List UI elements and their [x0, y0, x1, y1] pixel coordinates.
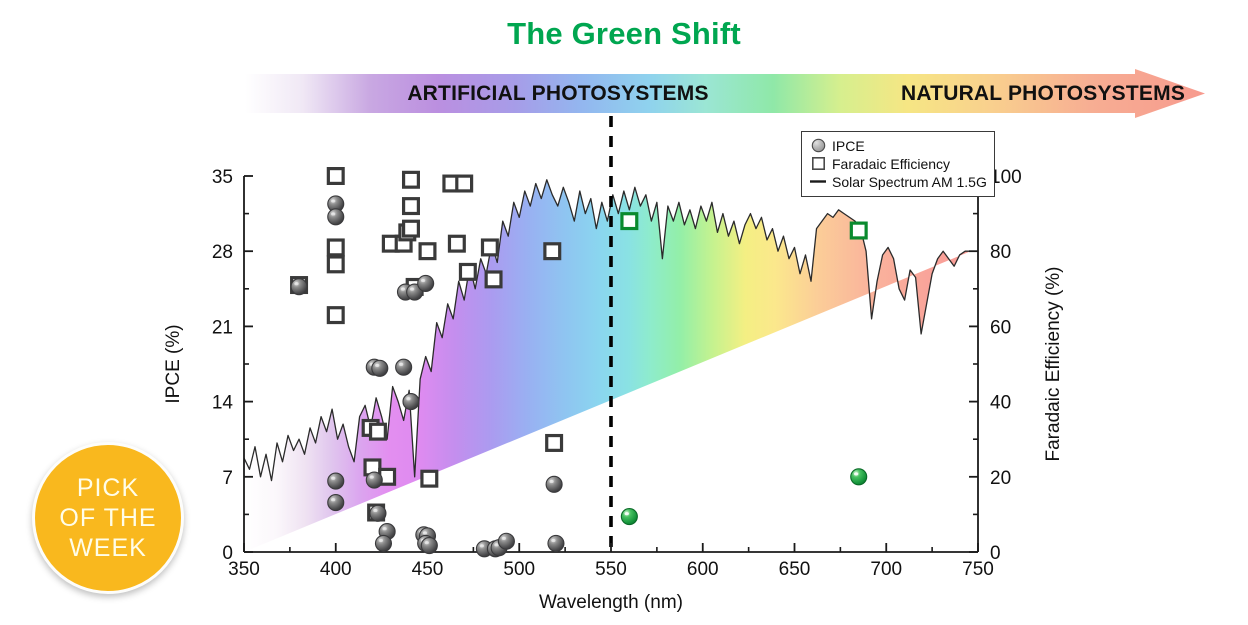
faradaic-efficiency-marker	[622, 214, 637, 229]
y-axis-label-left: IPCE (%)	[163, 324, 185, 403]
legend-item-ipce: IPCE	[807, 137, 987, 154]
legend-label: Solar Spectrum AM 1.5G	[832, 174, 987, 190]
svg-text:28: 28	[212, 242, 233, 263]
chart-svg: 3504004505005506006507007500714212835020…	[244, 176, 978, 552]
ipce-marker	[546, 476, 562, 492]
square-icon	[807, 156, 829, 171]
banner-label-natural: NATURAL PHOTOSYSTEMS	[879, 69, 1248, 118]
svg-text:7: 7	[222, 468, 233, 489]
faradaic-efficiency-marker	[404, 199, 419, 214]
x-axis-label: Wavelength (nm)	[539, 592, 683, 614]
ipce-marker	[370, 505, 386, 521]
svg-text:550: 550	[595, 559, 627, 580]
faradaic-efficiency-marker	[851, 223, 866, 238]
faradaic-efficiency-marker	[404, 172, 419, 187]
svg-text:14: 14	[212, 393, 234, 414]
legend-label: IPCE	[832, 138, 865, 154]
ipce-marker	[396, 359, 412, 375]
svg-text:650: 650	[779, 559, 811, 580]
svg-text:80: 80	[990, 242, 1011, 263]
svg-text:0: 0	[222, 543, 233, 564]
faradaic-efficiency-marker	[328, 257, 343, 272]
svg-text:700: 700	[870, 559, 902, 580]
ipce-marker	[375, 535, 391, 551]
ipce-marker	[621, 509, 637, 525]
faradaic-efficiency-marker	[328, 308, 343, 323]
faradaic-efficiency-marker	[404, 221, 419, 236]
faradaic-efficiency-marker	[422, 471, 437, 486]
ipce-marker	[418, 275, 434, 291]
svg-text:35: 35	[212, 167, 233, 188]
chart-plot-area: 3504004505005506006507007500714212835020…	[244, 176, 978, 552]
faradaic-efficiency-marker	[449, 236, 464, 251]
svg-text:20: 20	[990, 468, 1011, 489]
svg-text:0: 0	[990, 543, 1001, 564]
faradaic-efficiency-marker	[457, 176, 472, 191]
ipce-marker	[328, 473, 344, 489]
faradaic-efficiency-marker	[420, 244, 435, 259]
ipce-marker	[328, 495, 344, 511]
badge-line-1: PICK	[77, 473, 139, 503]
page-title: The Green Shift	[0, 16, 1248, 52]
svg-text:450: 450	[412, 559, 444, 580]
svg-text:21: 21	[212, 317, 233, 338]
faradaic-efficiency-marker	[371, 424, 386, 439]
faradaic-efficiency-marker	[482, 240, 497, 255]
ipce-marker	[403, 394, 419, 410]
line-icon	[807, 174, 829, 189]
svg-text:40: 40	[990, 393, 1011, 414]
chart-legend: IPCE Faradaic Efficiency Solar Spectrum …	[801, 131, 995, 197]
ipce-marker	[372, 360, 388, 376]
faradaic-efficiency-marker	[486, 272, 501, 287]
faradaic-efficiency-marker	[547, 436, 562, 451]
svg-text:500: 500	[503, 559, 535, 580]
faradaic-efficiency-marker	[328, 169, 343, 184]
ipce-marker	[548, 535, 564, 551]
svg-text:60: 60	[990, 317, 1011, 338]
banner-label-artificial: ARTIFICIAL PHOTOSYSTEMS	[245, 69, 871, 118]
figure-root: The Green Shift	[0, 0, 1248, 625]
ipce-marker	[366, 472, 382, 488]
faradaic-efficiency-marker	[545, 244, 560, 259]
legend-item-solar-spectrum: Solar Spectrum AM 1.5G	[807, 173, 987, 190]
ipce-marker	[498, 533, 514, 549]
y-axis-label-right: Faradaic Efficiency (%)	[1043, 267, 1065, 462]
badge-line-3: WEEK	[69, 533, 147, 563]
sphere-icon	[807, 138, 829, 153]
faradaic-efficiency-marker	[460, 264, 475, 279]
legend-item-faradaic: Faradaic Efficiency	[807, 155, 987, 172]
svg-text:400: 400	[320, 559, 352, 580]
pick-of-the-week-badge: PICK OF THE WEEK	[32, 442, 184, 594]
legend-label: Faradaic Efficiency	[832, 156, 950, 172]
ipce-marker	[851, 469, 867, 485]
ipce-marker	[291, 279, 307, 295]
ipce-marker	[328, 209, 344, 225]
svg-text:600: 600	[687, 559, 719, 580]
ipce-marker	[421, 538, 437, 554]
spectrum-arrow-banner: ARTIFICIAL PHOTOSYSTEMS NATURAL PHOTOSYS…	[245, 69, 1205, 118]
badge-line-2: OF THE	[59, 503, 156, 533]
faradaic-efficiency-marker	[328, 240, 343, 255]
